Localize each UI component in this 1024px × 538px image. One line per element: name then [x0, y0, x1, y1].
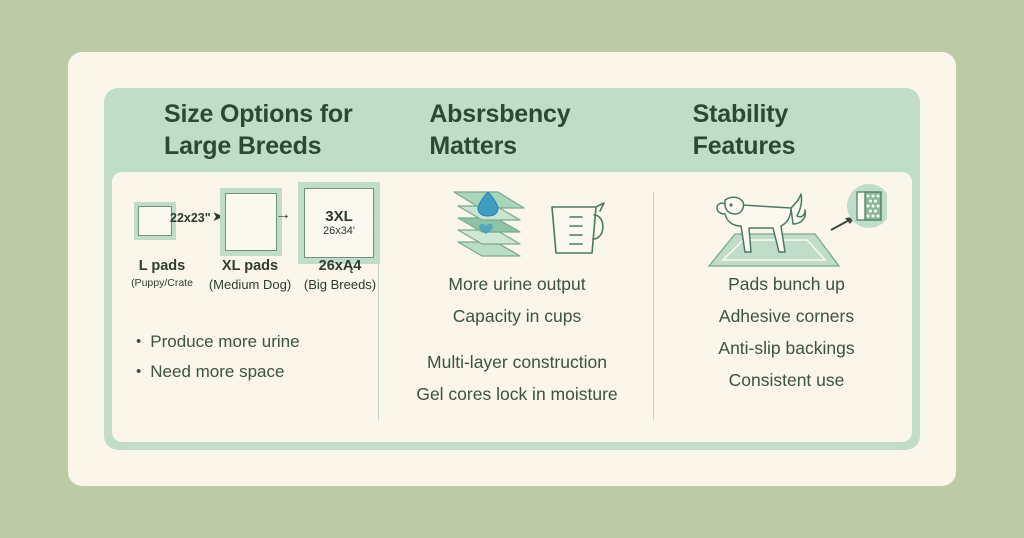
- pad-label-l-name: L pads: [120, 258, 204, 274]
- antislip-inset: [847, 184, 887, 228]
- pad-size-diagram: 22x23" ➤ → 3XL 26x34': [112, 178, 378, 256]
- header-title-stability-line1: Stability: [693, 98, 796, 130]
- bullet-marker-icon: •: [136, 332, 141, 352]
- pad-label-xl-name: XL pads: [204, 258, 296, 274]
- bullet-marker-icon: •: [136, 362, 141, 382]
- header-title-absorbency-line2: Matters: [429, 130, 570, 162]
- absorbency-line: More urine output: [386, 274, 648, 295]
- stability-line: Pads bunch up: [661, 274, 912, 295]
- pad-label-3xl-name: 26xĄ4: [292, 258, 388, 274]
- pad-label-xl-note: (Medium Dog): [204, 277, 296, 292]
- stability-line: Anti-slip backings: [661, 338, 912, 359]
- stability-line: Adhesive corners: [661, 306, 912, 327]
- column-stability: Pads bunch up Adhesive corners Anti-slip…: [661, 178, 912, 402]
- column-absorbency: More urine output Capacity in cups Multi…: [386, 178, 648, 416]
- pad-large-label: 3XL: [325, 209, 353, 226]
- absorbency-icon-group: [386, 178, 648, 274]
- header-title-size-line2: Large Breeds: [164, 130, 352, 162]
- header-title-stability-line2: Features: [693, 130, 796, 162]
- header-column-absorbency: Absrsbency Matters: [391, 88, 656, 172]
- pad-label-3xl-note: (Big Breeds): [292, 277, 388, 292]
- pad-label-3xl: 26xĄ4 (Big Breeds): [292, 258, 388, 292]
- pad-label-l-note: (Puppy/Crate: [120, 277, 204, 289]
- pad-labels-row: L pads (Puppy/Crate XL pads (Medium Dog)…: [112, 258, 378, 304]
- stability-icon-group: [661, 178, 912, 274]
- layered-pads-icon: [424, 186, 536, 266]
- header-title-size: Size Options for Large Breeds: [164, 98, 352, 162]
- list-item: • Need more space: [136, 362, 378, 382]
- pad-box-medium: [220, 188, 282, 256]
- absorbency-line: Gel cores lock in moisture: [386, 384, 648, 405]
- header-column-size: Size Options for Large Breeds: [104, 88, 391, 172]
- column-divider-right: [653, 192, 654, 420]
- pad-label-xl: XL pads (Medium Dog): [204, 258, 296, 292]
- size-bullet-list: • Produce more urine • Need more space: [112, 332, 378, 383]
- list-item: • Produce more urine: [136, 332, 378, 352]
- pad-box-large: 3XL 26x34': [298, 182, 380, 264]
- header-title-absorbency-line1: Absrsbency: [429, 98, 570, 130]
- bullet-text: Need more space: [150, 362, 284, 382]
- header-title-size-line1: Size Options for: [164, 98, 352, 130]
- pad-small-dimension: 22x23": [170, 211, 211, 225]
- absorbency-line: Capacity in cups: [386, 306, 648, 327]
- header-column-stability: Stability Features: [657, 88, 920, 172]
- measuring-cup-icon: [540, 189, 610, 263]
- infographic-canvas: Size Options for Large Breeds Absrsbency…: [0, 0, 1024, 538]
- bullet-text: Produce more urine: [150, 332, 299, 352]
- header-row: Size Options for Large Breeds Absrsbency…: [104, 88, 920, 172]
- header-title-stability: Stability Features: [693, 98, 796, 162]
- pad-label-l: L pads (Puppy/Crate: [120, 258, 204, 289]
- stability-line: Consistent use: [661, 370, 912, 391]
- dog-on-pad-icon: [687, 178, 887, 274]
- header-title-absorbency: Absrsbency Matters: [429, 98, 570, 162]
- arrow-right-icon-2: →: [275, 206, 291, 224]
- pad-large-dimension: 26x34': [323, 225, 355, 237]
- absorbency-line: Multi-layer construction: [386, 352, 648, 373]
- column-size-options: 22x23" ➤ → 3XL 26x34' L pads (Puppy/Crat…: [112, 178, 378, 393]
